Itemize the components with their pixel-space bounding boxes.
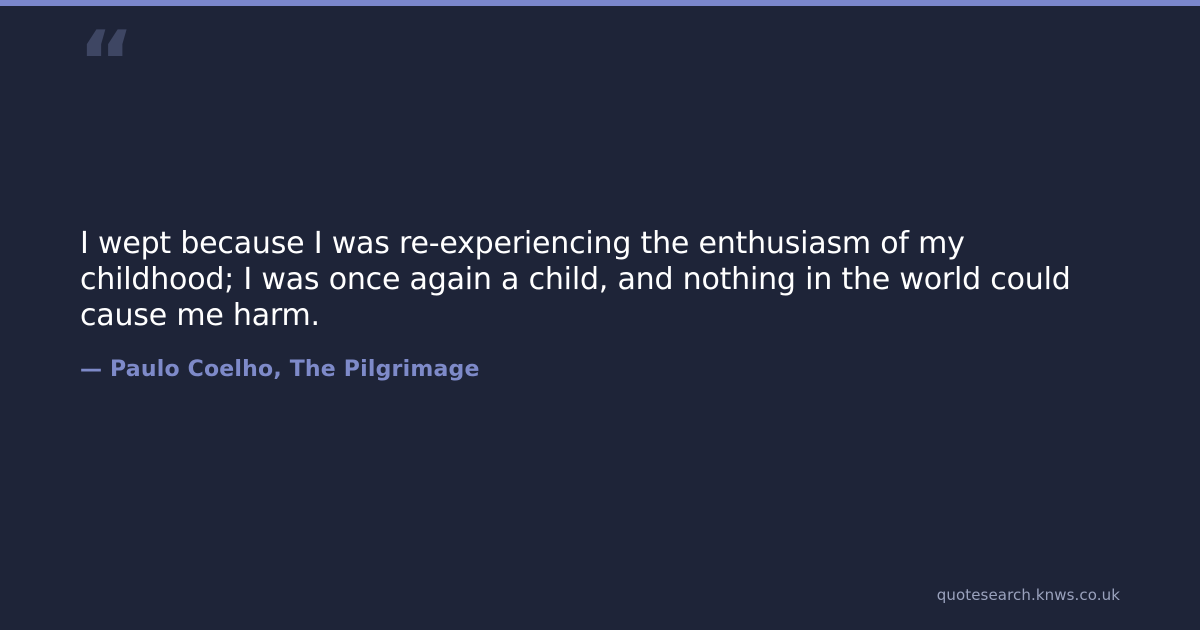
top-accent-bar bbox=[0, 0, 1200, 6]
source-url-label: quotesearch.knws.co.uk bbox=[937, 586, 1120, 604]
quote-body: I wept because I was re-experiencing the… bbox=[80, 226, 1090, 334]
quote-attribution: — Paulo Coelho, The Pilgrimage bbox=[80, 356, 480, 384]
quote-card: “ I wept because I was re-experiencing t… bbox=[0, 0, 1200, 630]
quote-text: I wept because I was re-experiencing the… bbox=[80, 226, 1090, 334]
quotation-mark-icon: “ bbox=[78, 20, 133, 106]
